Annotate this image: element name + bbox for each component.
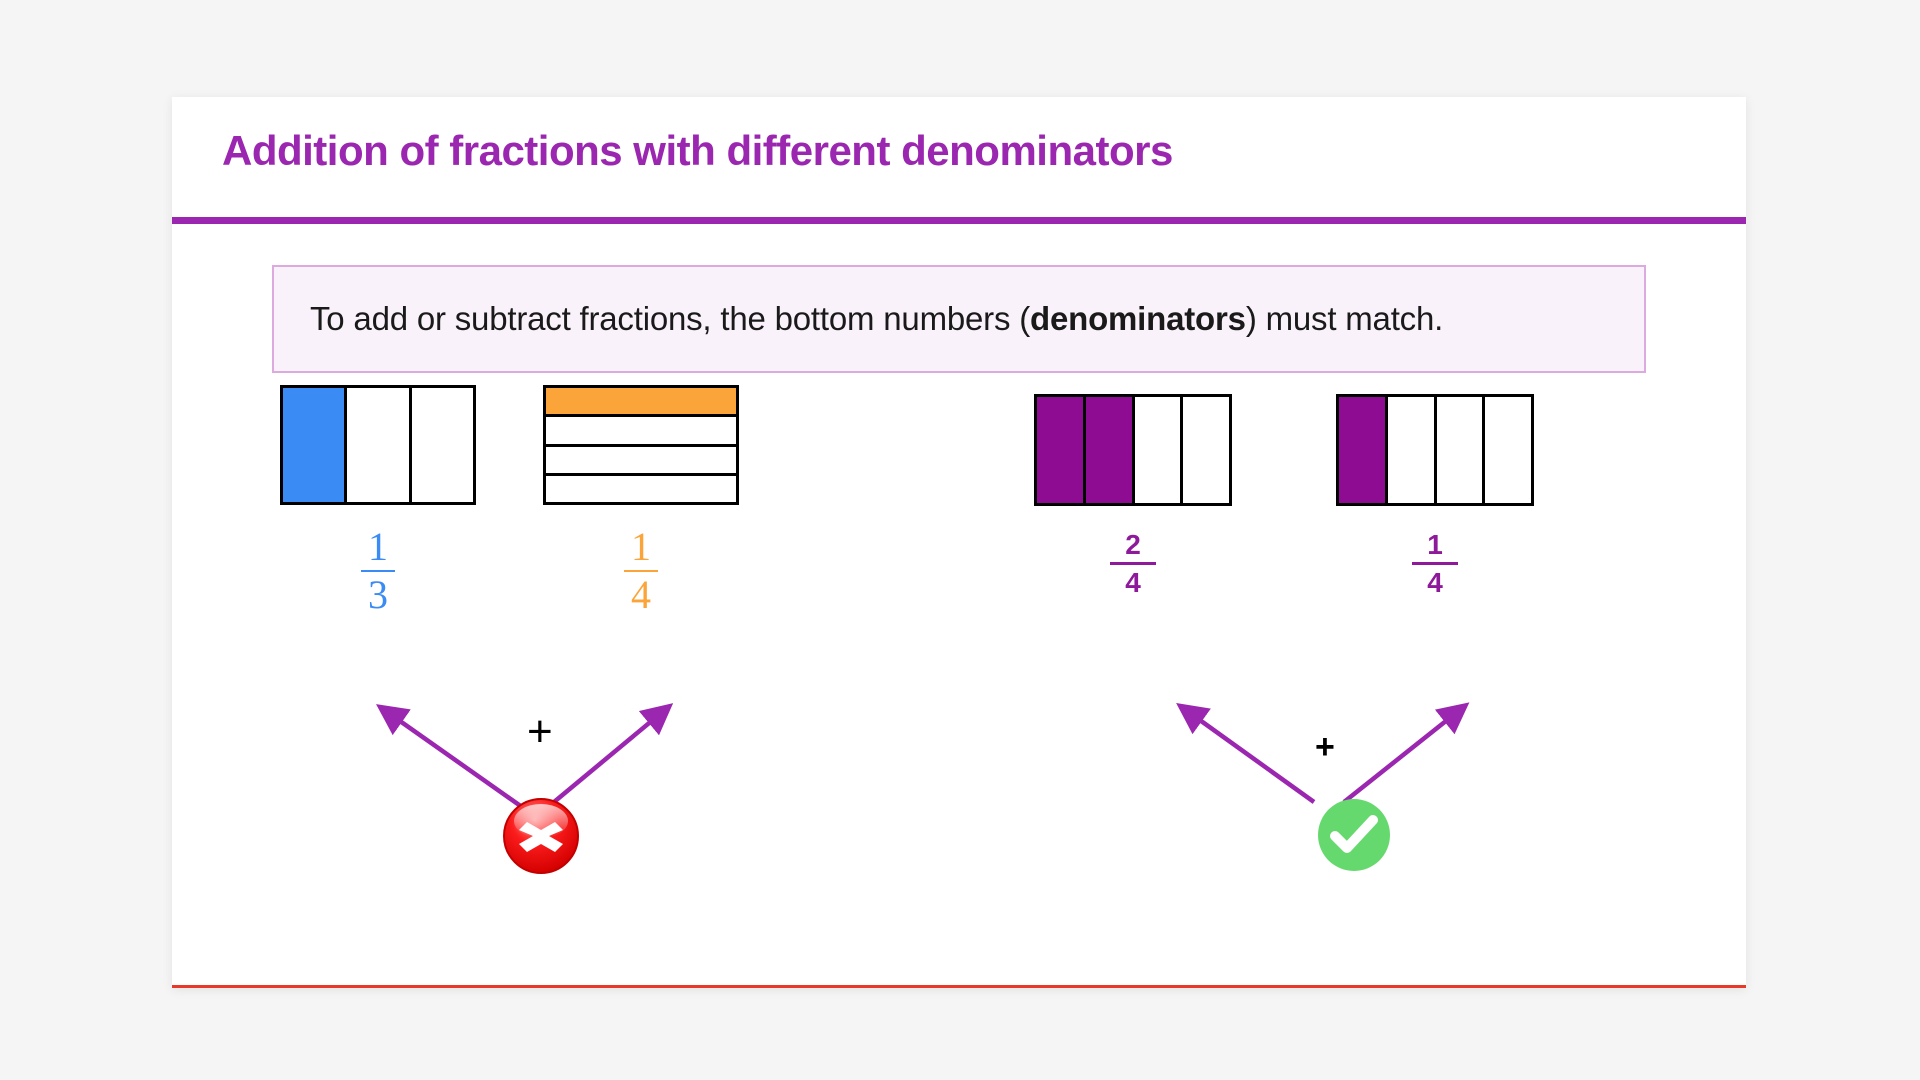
fraction-cell-empty bbox=[546, 444, 736, 473]
fraction-cell-empty bbox=[546, 473, 736, 502]
card-bottom-rule bbox=[172, 985, 1746, 988]
fraction-denominator: 4 bbox=[1336, 568, 1534, 597]
title-divider bbox=[172, 217, 1746, 224]
fraction-bar-one-fourth-purple bbox=[1336, 394, 1534, 506]
fraction-cell-empty bbox=[1385, 397, 1434, 503]
fraction-numerator: 1 bbox=[280, 527, 476, 570]
fraction-denominator: 4 bbox=[543, 572, 739, 615]
fraction-numerator: 1 bbox=[543, 527, 739, 570]
arrow-left-correct bbox=[1190, 713, 1314, 802]
fraction-cell-empty bbox=[409, 388, 473, 502]
fraction-bar-two-fourths bbox=[1034, 394, 1232, 506]
arrow-left-incorrect bbox=[390, 714, 522, 807]
fraction-label-one-third: 1 3 bbox=[280, 527, 476, 615]
red-cross-icon bbox=[502, 797, 580, 875]
fraction-label-one-fourth-purple: 1 4 bbox=[1336, 530, 1534, 598]
page-title: Addition of fractions with different den… bbox=[222, 127, 1173, 175]
fraction-cell-empty bbox=[546, 414, 736, 443]
fraction-cell-empty bbox=[344, 388, 408, 502]
rule-callout-text: To add or subtract fractions, the bottom… bbox=[310, 300, 1443, 338]
fraction-cell-filled bbox=[1037, 397, 1083, 503]
fraction-model-one-third: 1 3 bbox=[280, 385, 476, 615]
rule-text-before: To add or subtract fractions, the bottom… bbox=[310, 300, 1030, 337]
fraction-cell-empty bbox=[1132, 397, 1181, 503]
fraction-model-one-fourth-orange: 1 4 bbox=[543, 385, 739, 615]
slide-card: Addition of fractions with different den… bbox=[172, 97, 1746, 988]
fraction-cell-filled bbox=[546, 388, 736, 414]
fraction-cell-filled bbox=[283, 388, 344, 502]
fraction-cell-filled bbox=[1083, 397, 1132, 503]
fraction-denominator: 4 bbox=[1034, 568, 1232, 597]
rule-text-bold: denominators bbox=[1030, 300, 1246, 337]
fraction-bar-line bbox=[1110, 562, 1156, 565]
rule-callout: To add or subtract fractions, the bottom… bbox=[272, 265, 1646, 373]
fraction-denominator: 3 bbox=[280, 572, 476, 615]
fraction-bar-line bbox=[1412, 562, 1458, 565]
fraction-bar-one-third bbox=[280, 385, 476, 505]
fraction-bar-one-fourth-orange bbox=[543, 385, 739, 505]
fraction-model-two-fourths: 2 4 bbox=[1034, 394, 1232, 598]
fraction-cell-empty bbox=[1482, 397, 1531, 503]
fraction-cell-empty bbox=[1180, 397, 1229, 503]
fraction-model-one-fourth-purple: 1 4 bbox=[1336, 394, 1534, 598]
green-check-icon bbox=[1316, 797, 1392, 873]
fraction-numerator: 1 bbox=[1336, 530, 1534, 559]
fraction-label-one-fourth-orange: 1 4 bbox=[543, 527, 739, 615]
fraction-numerator: 2 bbox=[1034, 530, 1232, 559]
fraction-cell-empty bbox=[1434, 397, 1483, 503]
arrow-right-correct bbox=[1344, 713, 1456, 802]
arrow-right-incorrect bbox=[548, 714, 660, 807]
fraction-label-two-fourths: 2 4 bbox=[1034, 530, 1232, 598]
fraction-cell-filled bbox=[1339, 397, 1385, 503]
rule-text-after: ) must match. bbox=[1246, 300, 1443, 337]
